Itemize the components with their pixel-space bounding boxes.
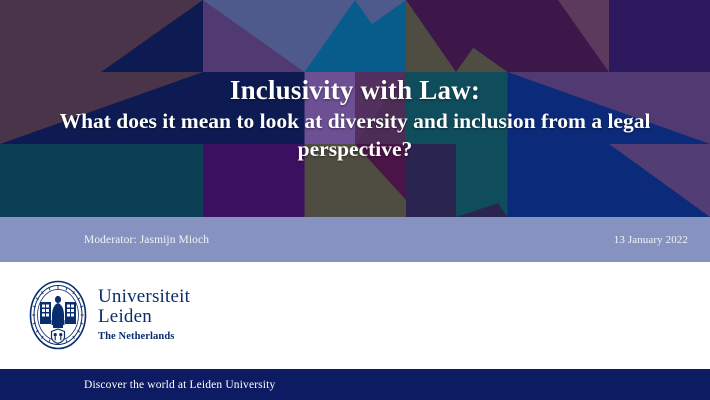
leiden-university-logo: Universiteit Leiden The Netherlands [29,280,190,350]
presentation-slide: Inclusivity with Law: What does it mean … [0,0,710,400]
date-label: 13 January 2022 [614,234,688,246]
info-bar: Moderator: Jasmijn Mioch 13 January 2022 [0,217,710,262]
footer-tagline: Discover the world at Leiden University [84,379,275,391]
footer-bar: Discover the world at Leiden University [0,369,710,400]
logo-line-leiden: Leiden [98,307,190,326]
logo-line-netherlands: The Netherlands [98,332,190,343]
hero-banner: Inclusivity with Law: What does it mean … [0,0,710,217]
geometric-pattern-graphic [0,0,710,217]
leiden-university-seal-icon [29,280,87,350]
logo-line-universiteit: Universiteit [98,287,190,306]
moderator-label: Moderator: Jasmijn Mioch [84,234,209,246]
logo-band: Universiteit Leiden The Netherlands [0,262,710,369]
logo-wordmark: Universiteit Leiden The Netherlands [98,287,190,343]
